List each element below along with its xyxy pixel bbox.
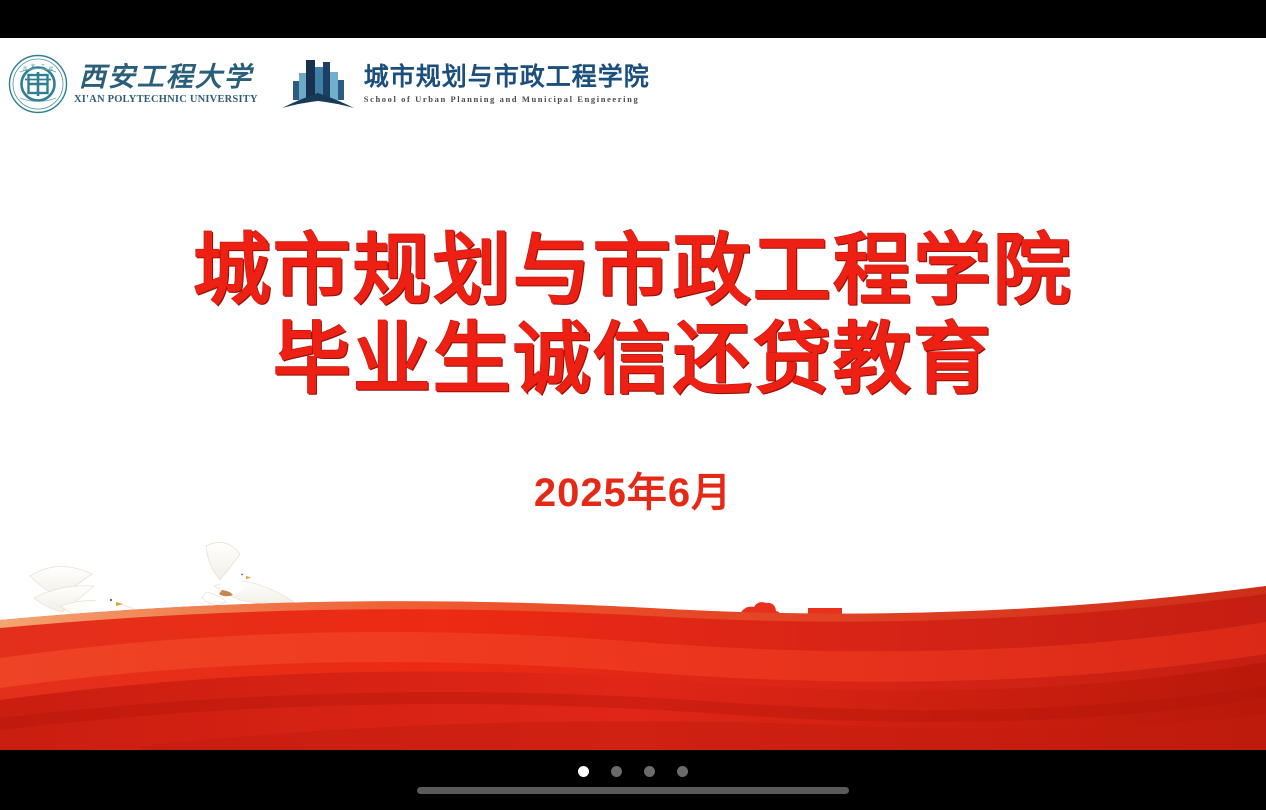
red-ribbon-wave-decoration [0,550,1266,750]
slide-date: 2025年6月 [0,460,1266,518]
university-logo: 西安 工程 西安工程大学 XI'AN POLYTECHNIC UNIVERSIT… [8,54,258,114]
slide-canvas[interactable]: 西安 工程 西安工程大学 XI'AN POLYTECHNIC UNIVERSIT… [0,38,1266,750]
campus-skyline-decoration [378,594,948,712]
page-dot-4[interactable] [677,766,688,777]
school-wordmark: 城市规划与市政工程学院 School of Urban Planning and… [364,64,650,104]
white-doves-decoration [0,528,330,708]
page-dot-1[interactable] [578,766,589,777]
university-wordmark: 西安工程大学 XI'AN POLYTECHNIC UNIVERSITY [74,63,258,104]
header-logo-band: 西安 工程 西安工程大学 XI'AN POLYTECHNIC UNIVERSIT… [0,48,650,120]
school-name-cn: 城市规划与市政工程学院 [364,64,650,91]
title-line-2: 毕业生诚信还贷教育 [0,315,1266,404]
university-name-en: XI'AN POLYTECHNIC UNIVERSITY [74,94,258,105]
page-dot-3[interactable] [644,766,655,777]
slide-viewer: 西安 工程 西安工程大学 XI'AN POLYTECHNIC UNIVERSIT… [0,0,1266,810]
svg-text:安: 安 [31,62,35,68]
title-line-1: 城市规划与市政工程学院 [0,226,1266,315]
slide-title-block: 城市规划与市政工程学院 毕业生诚信还贷教育 2025年6月 [0,226,1266,518]
page-dot-2[interactable] [611,766,622,777]
top-letterbox-bar [0,0,1266,38]
svg-text:工: 工 [41,63,45,68]
svg-text:西: 西 [23,66,27,71]
page-indicator-dots[interactable] [0,766,1266,777]
home-indicator-bar[interactable] [417,787,849,794]
university-name-cn: 西安工程大学 [79,63,253,91]
university-seal-icon: 西安 工程 [8,54,68,114]
school-logo: 城市规划与市政工程学院 School of Urban Planning and… [280,56,650,112]
school-name-en: School of Urban Planning and Municipal E… [364,94,650,104]
player-bottom-bar [0,750,1266,810]
svg-text:程: 程 [49,65,53,71]
building-skyline-icon [280,56,356,112]
